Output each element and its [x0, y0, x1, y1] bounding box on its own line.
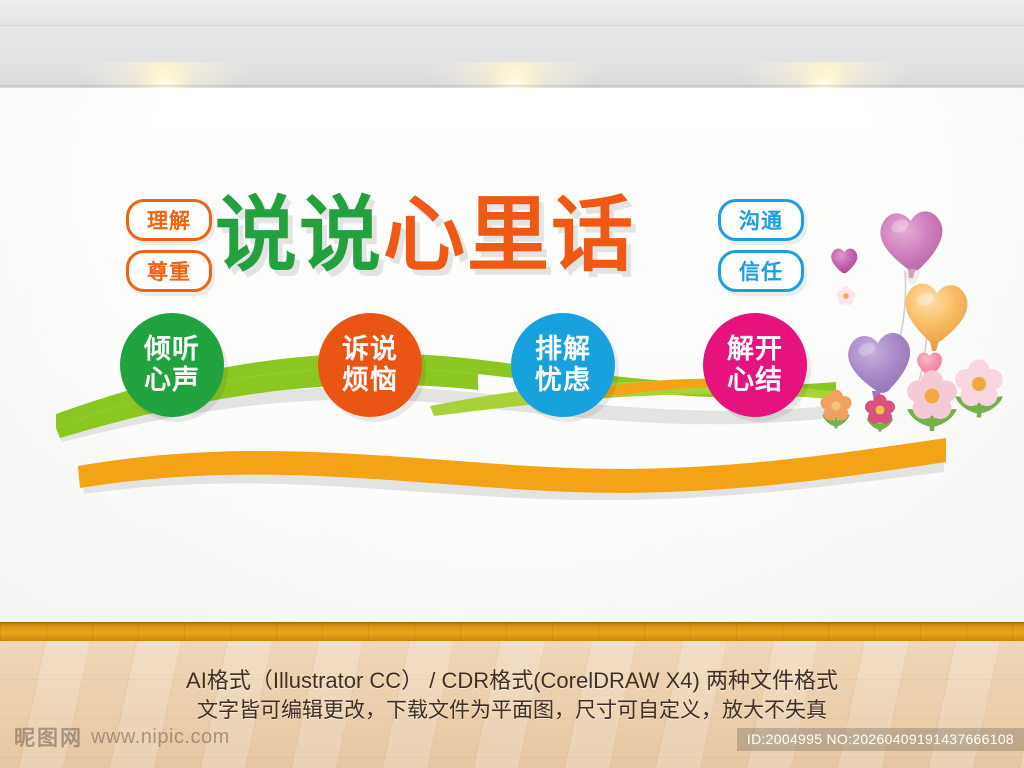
heart-small-magenta [831, 249, 857, 274]
circle-3-line1: 排解 [535, 334, 591, 365]
floor-baseboard [0, 622, 1024, 641]
flower-orange [821, 390, 852, 428]
watermark-logo-text: 昵图网 [14, 722, 83, 752]
footer-caption: AI格式（Illustrator CC） / CDR格式(CorelDRAW X… [0, 666, 1024, 726]
circle-listen-to-heart[interactable]: 倾听 心声 [120, 313, 224, 417]
right-badge-group: 沟通 信任 [718, 199, 804, 301]
circle-4-line2: 心结 [727, 365, 783, 396]
circle-untie-knots[interactable]: 解开 心结 [703, 313, 807, 417]
watermark-url: www.nipic.com [91, 726, 230, 749]
image-id-badge: ID:2004995 NO:20260409191437666108 [737, 728, 1024, 751]
badge-understand-label: 理解 [147, 205, 191, 235]
circle-3-line2: 忧虑 [535, 365, 591, 396]
ceiling-upper-panel [0, 0, 1024, 25]
badge-respect-label: 尊重 [147, 256, 191, 286]
badge-trust[interactable]: 信任 [718, 250, 804, 292]
badge-trust-label: 信任 [739, 256, 783, 286]
screenshot-stage: 理解 尊重 说说心里话 沟通 信任 [0, 0, 1024, 768]
badge-respect[interactable]: 尊重 [126, 250, 212, 292]
flower-pink-large [907, 370, 957, 431]
circle-tell-troubles[interactable]: 诉说 烦恼 [318, 313, 422, 417]
heart-balloon-orange [903, 283, 968, 351]
heart-balloon-purple [846, 331, 914, 401]
badge-communicate[interactable]: 沟通 [718, 199, 804, 241]
left-badge-group: 理解 尊重 [126, 199, 212, 301]
circle-1-line2: 心声 [144, 365, 200, 396]
badge-understand[interactable]: 理解 [126, 199, 212, 241]
caption-line-1: AI格式（Illustrator CC） / CDR格式(CorelDRAW X… [0, 666, 1024, 696]
circle-4-line1: 解开 [727, 334, 783, 365]
circle-2-line1: 诉说 [342, 334, 398, 365]
flower-rose [865, 394, 895, 431]
flower-tiny-white [837, 286, 856, 305]
circle-1-line1: 倾听 [144, 334, 200, 365]
balloon-flower-decoration [812, 188, 1012, 463]
circle-relieve-worries[interactable]: 排解 忧虑 [511, 313, 615, 417]
title-part-green: 说说 [215, 190, 383, 281]
watermark: 昵图网 www.nipic.com [14, 722, 230, 752]
heart-balloon-pink [879, 210, 945, 278]
ceiling-light-band [0, 25, 1024, 88]
mural-main-title: 说说心里话 [215, 185, 635, 287]
flower-pink-large-2 [955, 359, 1003, 417]
badge-communicate-label: 沟通 [739, 205, 783, 235]
circle-2-line2: 烦恼 [342, 365, 398, 396]
title-part-orange: 心里话 [383, 190, 635, 281]
